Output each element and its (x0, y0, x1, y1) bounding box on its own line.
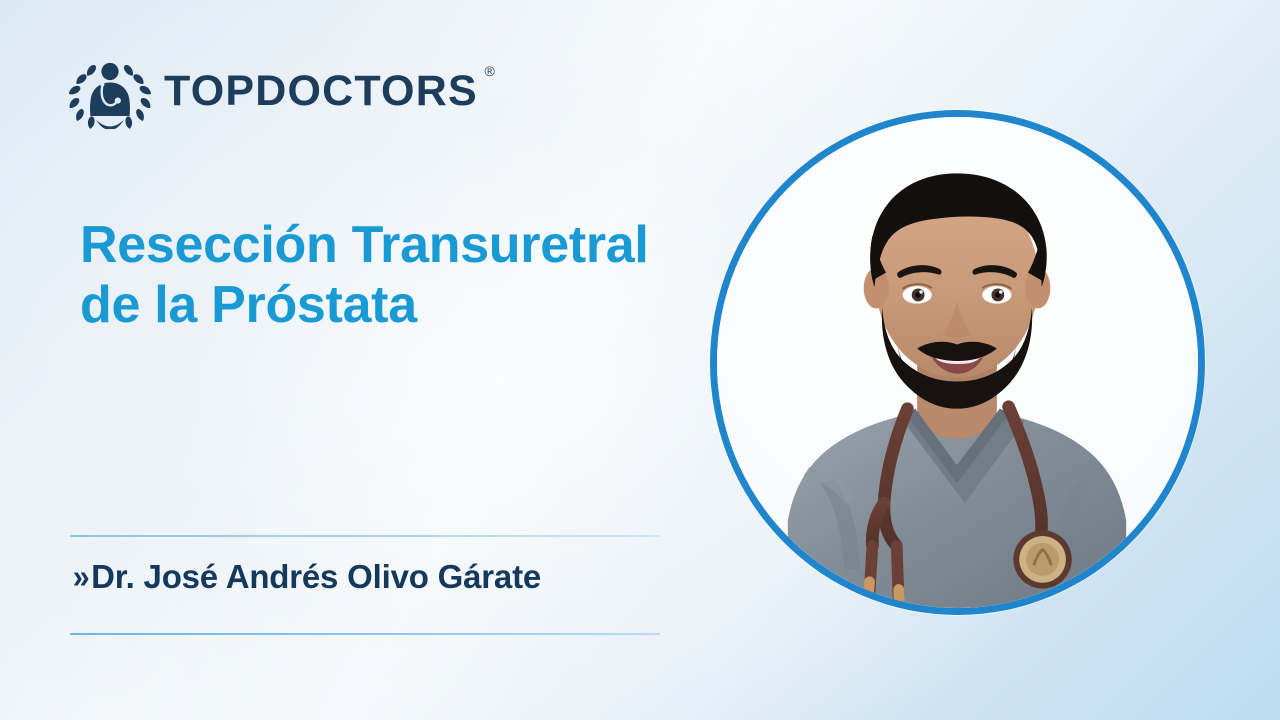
page-title: Resección Transuretral de la Próstata (80, 215, 670, 336)
speaker-name-label: Dr. José Andrés Olivo Gárate (91, 558, 541, 596)
brand-wordmark-text: TOPDOCTORS (164, 67, 478, 115)
speaker-name: » Dr. José Andrés Olivo Gárate (72, 558, 541, 596)
doctor-laurel-wreath-icon (68, 53, 152, 129)
registered-trademark-icon: ® (485, 64, 495, 78)
doctor-portrait-image (717, 117, 1198, 608)
slide-canvas: TOPDOCTORS ® Resección Transuretral de l… (0, 0, 1280, 720)
brand-logo[interactable]: TOPDOCTORS ® (68, 52, 478, 130)
divider-bottom (70, 633, 660, 635)
avatar (710, 110, 1205, 615)
brand-wordmark: TOPDOCTORS ® (164, 70, 478, 113)
double-chevron-icon: » (73, 560, 90, 593)
divider-top (70, 535, 660, 537)
